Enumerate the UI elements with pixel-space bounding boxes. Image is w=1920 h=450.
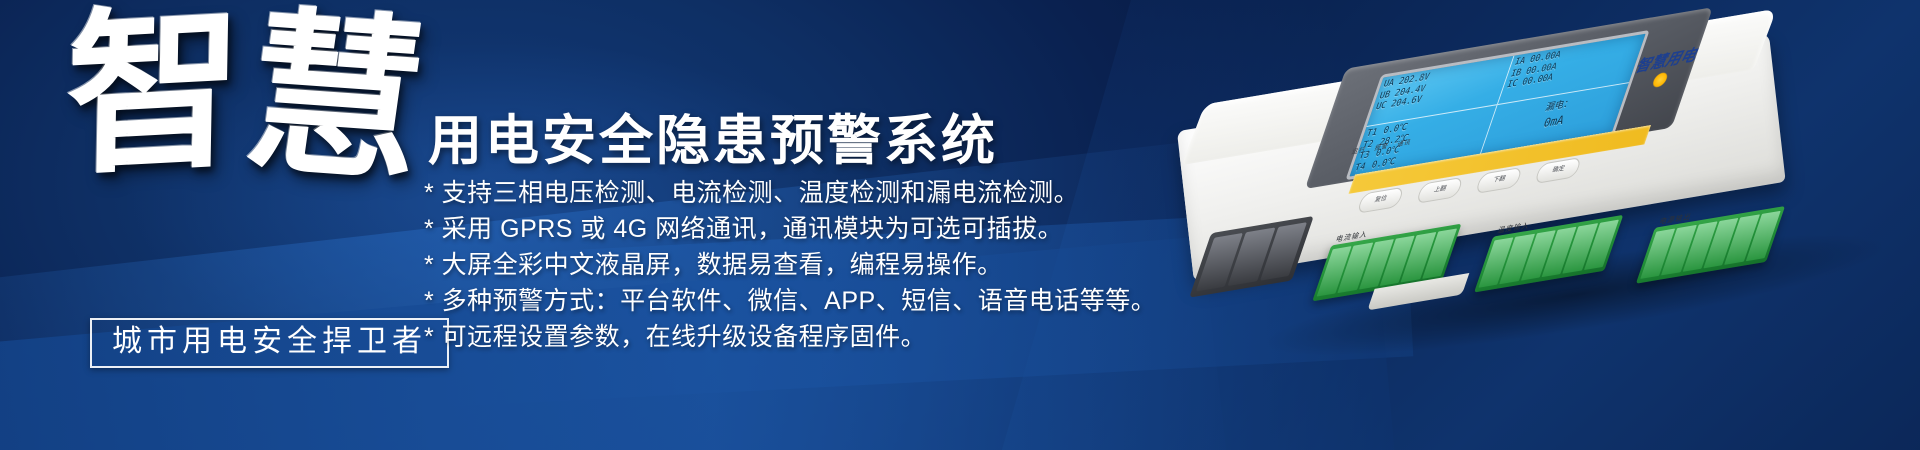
lcd-voltage-uc: UC 204.6V: [1374, 81, 1502, 113]
lcd-screen: UA 202.8V UB 204.4V UC 204.6V IA 00.00A …: [1345, 30, 1649, 180]
connector-pin-3: [1260, 222, 1307, 281]
feature-item-4: * 多种预警方式：平台软件、微信、APP、短信、语音电话等等。: [424, 286, 1156, 317]
lcd-temp-label-t3: T3: [1357, 149, 1374, 162]
key-reset[interactable]: 复位: [1356, 186, 1404, 213]
key-confirm[interactable]: 确定: [1534, 156, 1582, 183]
feature-item-3: * 大屏全彩中文液晶屏，数据易查看，编程易操作。: [424, 250, 1156, 281]
lcd-temp-value-t2: 28.2℃: [1378, 132, 1410, 148]
lcd-voltage-cell: UA 202.8V UB 204.4V UC 204.6V: [1366, 56, 1514, 127]
device-connector-block: [1189, 216, 1314, 298]
lcd-current-cell: IA 00.00A IB 00.00A IC 00.00A: [1498, 34, 1646, 105]
lcd-temp-label-t1: T1: [1365, 127, 1382, 140]
indicator-label-alarm: 报警: [1373, 140, 1391, 153]
lcd-voltage-ua: UA 202.8V: [1382, 58, 1510, 90]
lcd-temp-row-3: T3 0.0℃: [1357, 130, 1485, 162]
device-side-face: [1179, 139, 1253, 280]
lcd-temp-label-t4: T4: [1353, 160, 1370, 173]
lcd-current-ib: IB 00.00A: [1509, 48, 1638, 80]
key-up[interactable]: 上翻: [1416, 176, 1464, 203]
terminal-block-current: [1312, 224, 1461, 302]
calligraphy-char-zhi: 智: [65, 13, 250, 170]
lcd-current-ic: IC 00.00A: [1505, 59, 1634, 91]
promo-banner: 智慧 城市用电安全捍卫者 用电安全隐患预警系统 * 支持三相电压检测、电流检测、…: [0, 0, 1920, 450]
device-brand-logo: 智慧用电: [1613, 40, 1716, 95]
lcd-leakage-label: 漏电：: [1544, 98, 1574, 113]
key-down[interactable]: 下翻: [1475, 166, 1523, 193]
lcd-temperature-cell: T1 0.0℃ T2 28.2℃ T3 0.0℃ T4: [1349, 105, 1497, 176]
feature-list: * 支持三相电压检测、电流检测、温度检测和漏电流检测。 * 采用 GPRS 或 …: [424, 178, 1156, 358]
lcd-temp-row-2: T2 28.2℃: [1361, 119, 1489, 151]
device-illustration: UA 202.8V UB 204.4V UC 204.6V IA 00.00A …: [1085, 10, 1920, 370]
device-brand-text: 智慧用电: [1633, 47, 1698, 76]
lcd-current-ia: IA 00.00A: [1513, 36, 1642, 68]
feature-item-1: * 支持三相电压检测、电流检测、温度检测和漏电流检测。: [424, 178, 1156, 209]
calligraphy-char-hui: 慧: [238, 18, 439, 178]
terminal-block-power: [1636, 206, 1785, 284]
lcd-temp-value-t1: 0.0℃: [1382, 122, 1409, 137]
terminal-label-temperature: 温度输入: [1496, 220, 1531, 236]
connector-pin-2: [1228, 227, 1275, 286]
lcd-leakage-cell: 漏电： 0mA: [1481, 83, 1629, 154]
device-keypad: 复位 上翻 下翻 确定: [1355, 140, 1660, 217]
connector-pin-1: [1196, 233, 1243, 292]
lcd-leakage-value: 0mA: [1489, 106, 1618, 138]
lcd-temp-value-t3: 0.0℃: [1374, 145, 1401, 160]
lcd-temp-label-t2: T2: [1361, 138, 1378, 151]
device-indicator-labels: 运行 报警 通讯: [1350, 92, 1679, 157]
device-front-panel: [1305, 7, 1713, 189]
device-label-strip: [1348, 125, 1651, 194]
device-din-foot: [1367, 273, 1469, 310]
indicator-label-run: 运行: [1350, 144, 1368, 157]
feature-item-5: * 可远程设置参数，在线升级设备程序固件。: [424, 322, 1156, 353]
device-body: [1177, 32, 1786, 280]
calligraphy-title: 智慧: [53, 18, 432, 288]
terminal-block-temperature: [1474, 215, 1623, 293]
feature-item-2: * 采用 GPRS 或 4G 网络通讯，通讯模块为可选可插拔。: [424, 214, 1156, 245]
terminal-label-power: 电源输出: [1658, 211, 1693, 227]
spark-icon: [1651, 71, 1670, 89]
device-top-face: [1182, 9, 1777, 165]
lcd-temp-row-4: T4 0.0℃: [1353, 142, 1481, 174]
device-shadow: [1263, 212, 1886, 378]
lcd-voltage-ub: UB 204.4V: [1378, 70, 1506, 102]
indicator-label-comm: 通讯: [1396, 136, 1414, 149]
slogan-badge: 城市用电安全捍卫者: [90, 318, 449, 368]
terminal-label-current: 电流输入: [1334, 229, 1369, 245]
device-unit: UA 202.8V UB 204.4V UC 204.6V IA 00.00A …: [1133, 0, 1877, 397]
lcd-temp-row-1: T1 0.0℃: [1365, 108, 1493, 140]
lcd-temp-value-t4: 0.0℃: [1370, 156, 1397, 171]
page-title: 用电安全隐患预警系统: [428, 96, 998, 175]
